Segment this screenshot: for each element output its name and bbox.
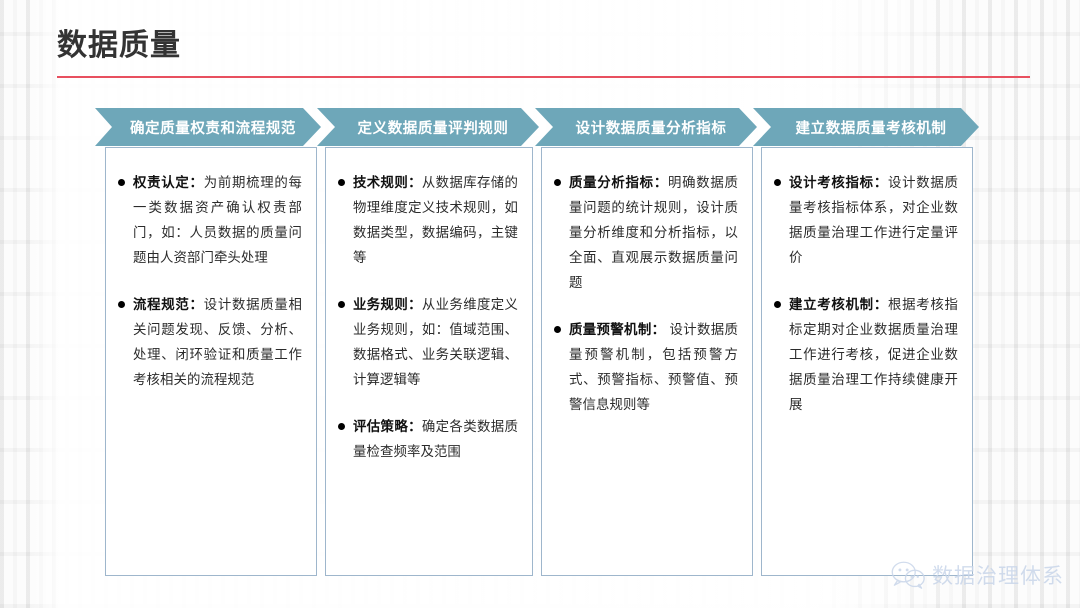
bullet-body: 明确数据质量问题的统计规则，设计质量分析维度和分析指标，以全面、直观展示数据质量…	[569, 175, 738, 290]
content-cards-row: 权责认定：为前期梳理的每一类数据资产确认权责部门，如：人员数据的质量问题由人资部…	[105, 147, 971, 576]
bullet-dot-icon	[554, 326, 561, 333]
bullet-text: 评估策略：确定各类数据质量检查频率及范围	[353, 414, 518, 464]
content-card-4: 设计考核指标：设计数据质量考核指标体系，对企业数据质量治理工作进行定量评价 建立…	[761, 147, 973, 576]
bullet-text: 技术规则：从数据库存储的物理维度定义技术规则，如数据类型，数据编码，主键等	[353, 170, 518, 270]
process-step-banner: 确定质量权责和流程规范 定义数据质量评判规则 设计数据质量分析指标 建立数据质量…	[95, 108, 980, 146]
bullet-text: 设计考核指标：设计数据质量考核指标体系，对企业数据质量治理工作进行定量评价	[789, 170, 958, 270]
bullet-lead: 业务规则：	[353, 297, 422, 312]
content-card-2: 技术规则：从数据库存储的物理维度定义技术规则，如数据类型，数据编码，主键等 业务…	[325, 147, 533, 576]
list-item: 流程规范：设计数据质量相关问题发现、反馈、分析、处理、闭环验证和质量工作考核相关…	[118, 292, 302, 392]
step-chevron-1-label: 确定质量权责和流程规范	[120, 117, 296, 138]
step-chevron-2-label: 定义数据质量评判规则	[348, 117, 509, 138]
bullet-lead: 评估策略：	[353, 419, 422, 434]
bullet-text: 权责认定：为前期梳理的每一类数据资产确认权责部门，如：人员数据的质量问题由人资部…	[133, 170, 302, 270]
bullet-lead: 质量预警机制：	[569, 322, 665, 337]
bullet-text: 业务规则：从业务维度定义业务规则，如：值域范围、数据格式、业务关联逻辑、计算逻辑…	[353, 292, 518, 392]
page-title: 数据质量	[57, 26, 181, 66]
bullet-lead: 权责认定：	[133, 175, 204, 190]
bullet-lead: 流程规范：	[133, 297, 204, 312]
step-chevron-4[interactable]: 建立数据质量考核机制	[753, 108, 979, 146]
bullet-dot-icon	[554, 179, 561, 186]
list-item: 评估策略：确定各类数据质量检查频率及范围	[338, 414, 518, 464]
list-item: 技术规则：从数据库存储的物理维度定义技术规则，如数据类型，数据编码，主键等	[338, 170, 518, 270]
title-underline-rule	[57, 76, 1030, 78]
bullet-text: 流程规范：设计数据质量相关问题发现、反馈、分析、处理、闭环验证和质量工作考核相关…	[133, 292, 302, 392]
list-item: 设计考核指标：设计数据质量考核指标体系，对企业数据质量治理工作进行定量评价	[774, 170, 958, 270]
bullet-dot-icon	[338, 179, 345, 186]
step-chevron-3-label: 设计数据质量分析指标	[566, 117, 727, 138]
bullet-lead: 技术规则：	[353, 175, 422, 190]
list-item: 建立考核机制：根据考核指标定期对企业数据质量治理工作进行考核，促进企业数据质量治…	[774, 292, 958, 417]
list-item: 业务规则：从业务维度定义业务规则，如：值域范围、数据格式、业务关联逻辑、计算逻辑…	[338, 292, 518, 392]
list-item: 权责认定：为前期梳理的每一类数据资产确认权责部门，如：人员数据的质量问题由人资部…	[118, 170, 302, 270]
bullet-dot-icon	[338, 301, 345, 308]
step-chevron-4-label: 建立数据质量考核机制	[786, 117, 947, 138]
wechat-icon	[891, 560, 925, 590]
bullet-lead: 设计考核指标：	[789, 175, 888, 190]
list-item: 质量分析指标：明确数据质量问题的统计规则，设计质量分析维度和分析指标，以全面、直…	[554, 170, 738, 295]
step-chevron-2[interactable]: 定义数据质量评判规则	[317, 108, 539, 146]
bullet-dot-icon	[338, 423, 345, 430]
bullet-lead: 建立考核机制：	[789, 297, 888, 312]
watermark: 数据治理体系	[891, 560, 1064, 590]
bullet-dot-icon	[774, 301, 781, 308]
watermark-text: 数据治理体系	[932, 560, 1064, 590]
list-item: 质量预警机制： 设计数据质量预警机制，包括预警方式、预警指标、预警值、预警信息规…	[554, 317, 738, 417]
content-card-3: 质量分析指标：明确数据质量问题的统计规则，设计质量分析维度和分析指标，以全面、直…	[541, 147, 753, 576]
bullet-dot-icon	[774, 179, 781, 186]
page-title-container: 数据质量	[57, 26, 181, 66]
step-chevron-1[interactable]: 确定质量权责和流程规范	[95, 108, 321, 146]
bullet-dot-icon	[118, 301, 125, 308]
bullet-text: 建立考核机制：根据考核指标定期对企业数据质量治理工作进行考核，促进企业数据质量治…	[789, 292, 958, 417]
step-chevron-3[interactable]: 设计数据质量分析指标	[535, 108, 757, 146]
bullet-text: 质量预警机制： 设计数据质量预警机制，包括预警方式、预警指标、预警值、预警信息规…	[569, 317, 738, 417]
bullet-lead: 质量分析指标：	[569, 175, 668, 190]
bullet-dot-icon	[118, 179, 125, 186]
bullet-text: 质量分析指标：明确数据质量问题的统计规则，设计质量分析维度和分析指标，以全面、直…	[569, 170, 738, 295]
content-card-1: 权责认定：为前期梳理的每一类数据资产确认权责部门，如：人员数据的质量问题由人资部…	[105, 147, 317, 576]
bullet-body: 根据考核指标定期对企业数据质量治理工作进行考核，促进企业数据质量治理工作持续健康…	[789, 297, 958, 412]
